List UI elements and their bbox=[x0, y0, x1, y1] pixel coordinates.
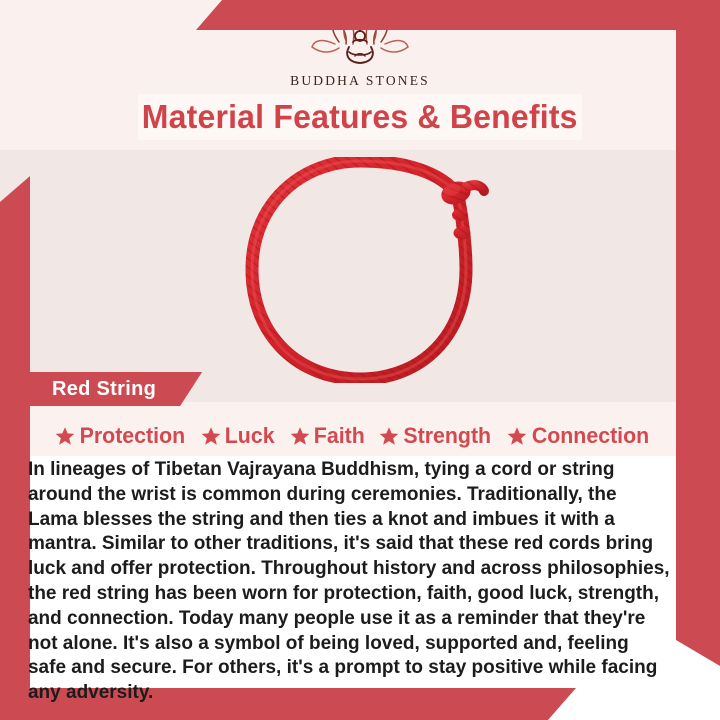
frame-accent-top bbox=[196, 0, 720, 30]
benefit-label: Strength bbox=[403, 423, 491, 449]
benefit-label: Connection bbox=[531, 423, 648, 449]
red-braided-string-bracelet-icon bbox=[226, 157, 494, 383]
benefit-item: Faith bbox=[290, 423, 366, 449]
benefit-label: Faith bbox=[313, 423, 364, 449]
title-banner: Material Features & Benefits bbox=[138, 94, 582, 140]
star-icon bbox=[55, 426, 75, 446]
product-image bbox=[0, 150, 720, 390]
benefit-item: Connection bbox=[507, 423, 651, 449]
benefit-label: Luck bbox=[225, 423, 275, 449]
product-name-label: Red String bbox=[52, 378, 156, 401]
description-block: In lineages of Tibetan Vajrayana Buddhis… bbox=[28, 458, 680, 706]
star-icon bbox=[290, 426, 310, 446]
star-icon bbox=[507, 426, 527, 446]
frame-accent-right bbox=[676, 0, 720, 666]
benefit-item: Protection bbox=[55, 423, 187, 449]
star-icon bbox=[201, 426, 221, 446]
star-icon bbox=[379, 426, 399, 446]
benefits-list: Protection Luck Faith Strength Connectio… bbox=[30, 418, 676, 454]
benefit-item: Luck bbox=[201, 423, 275, 449]
description-text: In lineages of Tibetan Vajrayana Buddhis… bbox=[28, 458, 670, 706]
frame-accent-left bbox=[0, 176, 30, 720]
product-name-tab: Red String bbox=[24, 372, 202, 406]
benefit-item: Strength bbox=[379, 423, 492, 449]
brand-name: BUDDHA STONES bbox=[290, 73, 430, 89]
benefit-label: Protection bbox=[80, 423, 186, 449]
page-title: Material Features & Benefits bbox=[142, 98, 578, 136]
